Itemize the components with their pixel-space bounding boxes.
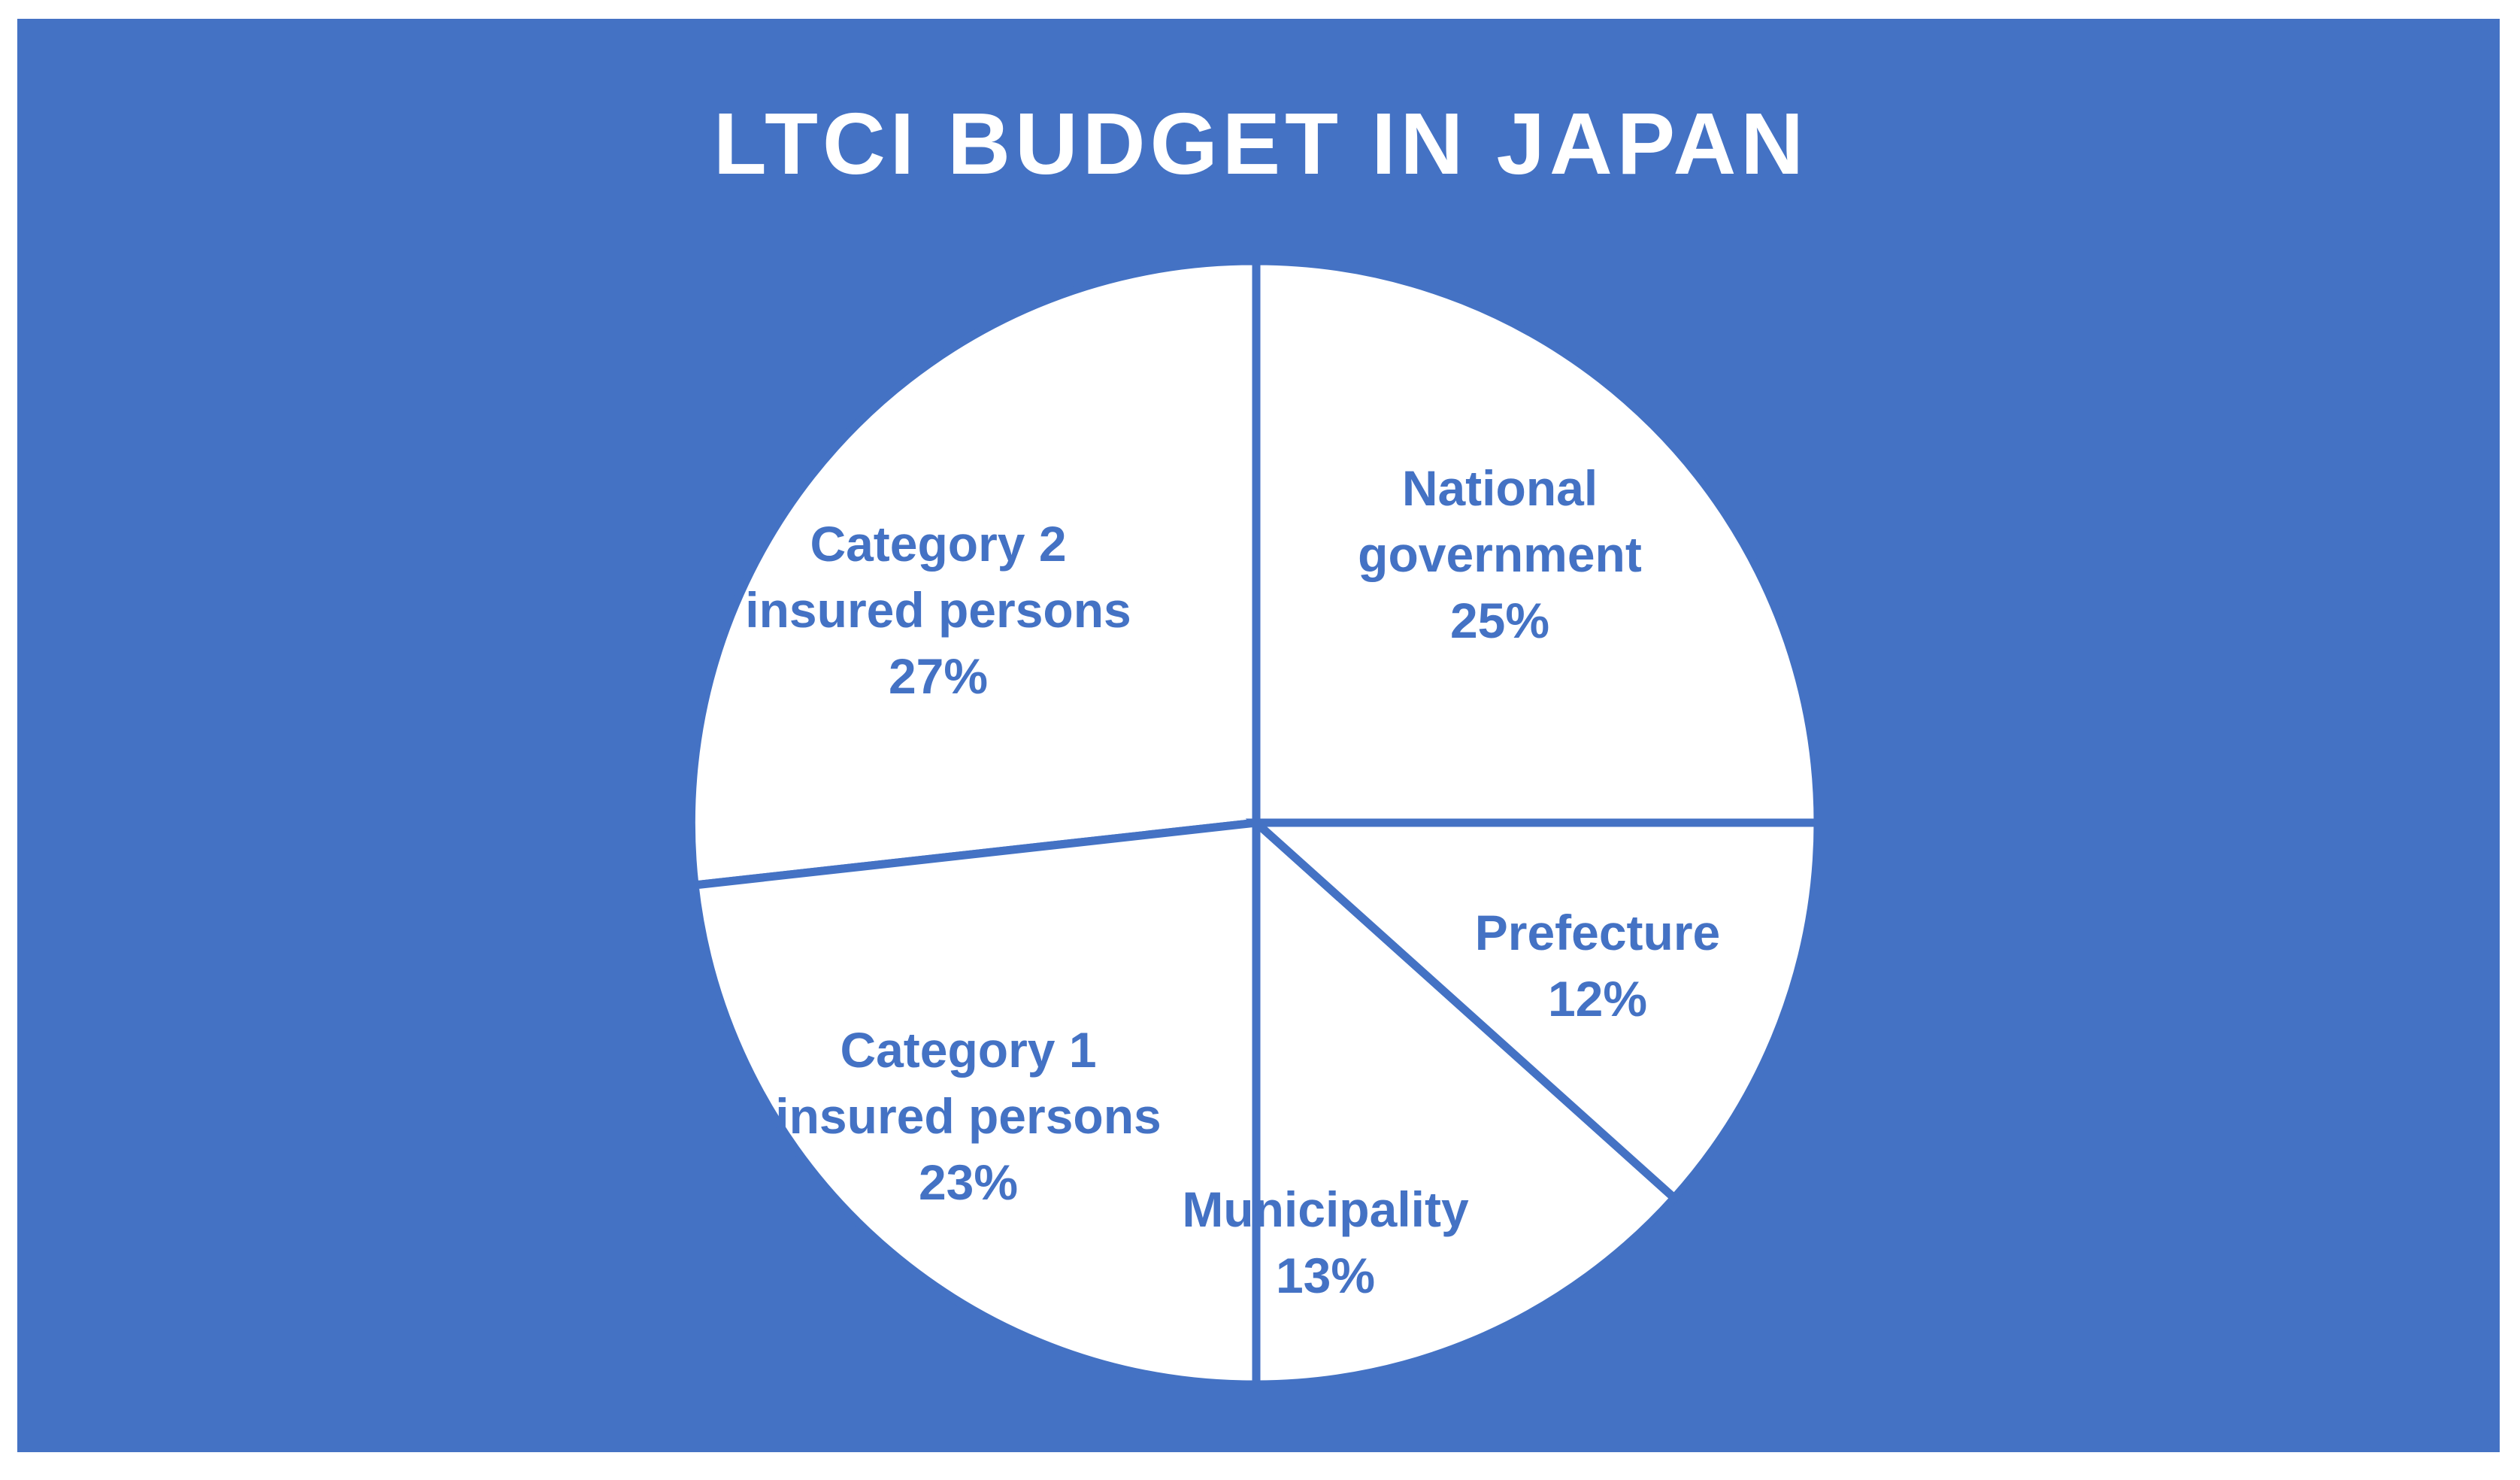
slide-canvas: LTCI BUDGET IN JAPAN National government… <box>0 0 2520 1480</box>
slide-panel: LTCI BUDGET IN JAPAN National government… <box>17 19 2500 1452</box>
pie-label-national-government-line1: National <box>1304 456 1695 522</box>
pie-label-category1-line1: Category 1 <box>705 1017 1231 1084</box>
pie-label-category2-value: 27% <box>675 644 1201 710</box>
pie-label-municipality-value: 13% <box>1115 1243 1536 1309</box>
pie-label-category2: Category 2 insured persons 27% <box>675 511 1201 709</box>
pie-label-prefecture-line1: Prefecture <box>1395 900 1801 966</box>
pie-label-category2-line2: insured persons <box>675 578 1201 644</box>
pie-label-municipality-line1: Municipality <box>1115 1177 1536 1243</box>
pie-label-national-government-value: 25% <box>1304 588 1695 654</box>
pie-label-prefecture: Prefecture 12% <box>1395 900 1801 1033</box>
pie-label-national-government: National government 25% <box>1304 456 1695 654</box>
pie-label-category2-line1: Category 2 <box>675 511 1201 578</box>
pie-label-category1-line2: insured persons <box>705 1084 1231 1150</box>
pie-label-prefecture-value: 12% <box>1395 966 1801 1033</box>
pie-label-national-government-line2: government <box>1304 522 1695 588</box>
pie-label-municipality: Municipality 13% <box>1115 1177 1536 1309</box>
pie-chart: National government 25% Category 2 insur… <box>17 19 2500 1452</box>
